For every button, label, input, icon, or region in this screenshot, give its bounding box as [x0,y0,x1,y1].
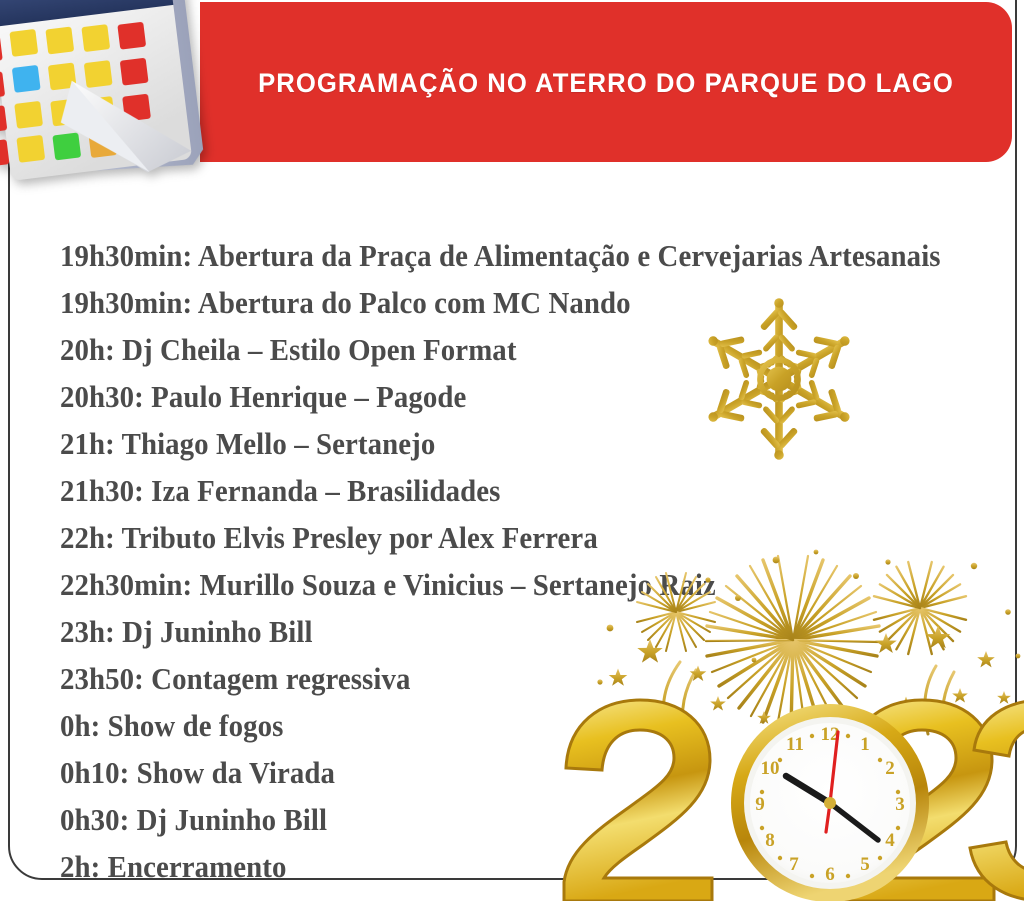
year-2023-clock-graphic: 12 1 2 3 4 5 6 7 8 9 10 11 [548,686,1024,901]
svg-text:4: 4 [885,830,895,851]
calendar-icon [0,0,217,208]
banner-title: PROGRAMAÇÃO NO ATERRO DO PARQUE DO LAGO [220,68,991,99]
header-banner: PROGRAMAÇÃO NO ATERRO DO PARQUE DO LAGO [200,2,1012,162]
svg-text:10: 10 [761,758,780,779]
svg-text:2: 2 [885,758,895,779]
svg-text:9: 9 [755,794,765,815]
svg-text:5: 5 [860,854,870,875]
svg-text:6: 6 [825,864,835,885]
poster-root: PROGRAMAÇÃO NO ATERRO DO PARQUE DO LAGO [0,0,1024,901]
schedule-item: 19h30min: Abertura da Praça de Alimentaç… [60,232,934,279]
snowflake-icon [684,284,874,474]
svg-text:8: 8 [765,830,775,851]
svg-text:1: 1 [860,734,870,755]
svg-text:7: 7 [789,854,799,875]
svg-text:11: 11 [786,734,804,755]
svg-text:3: 3 [895,794,905,815]
schedule-item: 21h30: Iza Fernanda – Brasilidades [60,467,934,514]
